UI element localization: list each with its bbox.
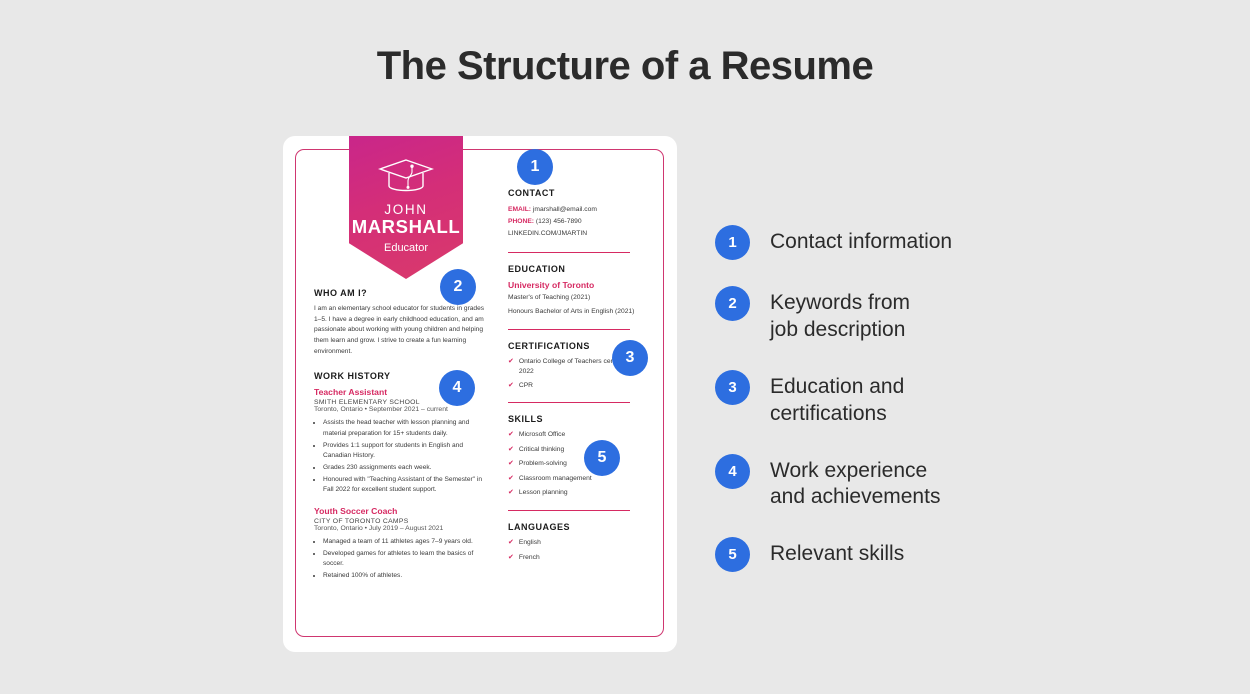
languages-heading: LANGUAGES bbox=[508, 522, 660, 532]
contact-email-label: EMAIL: bbox=[508, 206, 531, 213]
language-label: French bbox=[519, 553, 540, 564]
skill-label: Microsoft Office bbox=[519, 430, 565, 441]
skill-label: Problem-solving bbox=[519, 459, 567, 470]
legend-label-1: Contact information bbox=[770, 225, 952, 256]
legend-list: 1 Contact information 2 Keywords from jo… bbox=[715, 225, 1115, 598]
job-bullet: Developed games for athletes to learn th… bbox=[323, 549, 490, 570]
check-icon: ✔ bbox=[508, 538, 514, 549]
check-icon: ✔ bbox=[508, 445, 514, 456]
graduation-cap-icon bbox=[349, 158, 463, 197]
resume-left-column: WHO AM I? I am an elementary school educ… bbox=[314, 288, 490, 583]
job-bullet: Honoured with "Teaching Assistant of the… bbox=[323, 475, 490, 496]
job-bullet: Assists the head teacher with lesson pla… bbox=[323, 418, 490, 439]
education-degree: Honours Bachelor of Arts in English (202… bbox=[508, 307, 660, 317]
job-meta: Toronto, Ontario • July 2019 – August 20… bbox=[314, 525, 490, 532]
job-organization: CITY OF TORONTO CAMPS bbox=[314, 518, 490, 525]
education-school: University of Toronto bbox=[508, 280, 660, 290]
resume-role: Educator bbox=[349, 242, 463, 254]
skill-item: ✔ Classroom management bbox=[508, 474, 660, 485]
contact-linkedin: LINKEDIN.COM/JMARTIN bbox=[508, 228, 660, 240]
resume-last-name: MARSHALL bbox=[349, 216, 463, 238]
legend-label-5: Relevant skills bbox=[770, 537, 904, 568]
education-degree: Master's of Teaching (2021) bbox=[508, 293, 660, 303]
resume-badge-2: 2 bbox=[440, 269, 476, 305]
legend-badge-4: 4 bbox=[715, 454, 750, 489]
legend-item-3: 3 Education and certifications bbox=[715, 370, 1115, 428]
legend-badge-1: 1 bbox=[715, 225, 750, 260]
skill-label: Lesson planning bbox=[519, 488, 568, 499]
check-icon: ✔ bbox=[508, 430, 514, 441]
language-item: ✔ English bbox=[508, 538, 660, 549]
section-divider bbox=[508, 329, 630, 330]
certification-item: ✔ CPR bbox=[508, 381, 660, 392]
job-bullet: Managed a team of 11 athletes ages 7–9 y… bbox=[323, 537, 490, 548]
legend-item-5: 5 Relevant skills bbox=[715, 537, 1115, 572]
skill-label: Critical thinking bbox=[519, 445, 564, 456]
job-title: Youth Soccer Coach bbox=[314, 506, 490, 516]
job-bullets: Assists the head teacher with lesson pla… bbox=[314, 418, 490, 496]
check-icon: ✔ bbox=[508, 488, 514, 499]
check-icon: ✔ bbox=[508, 381, 514, 392]
legend-badge-5: 5 bbox=[715, 537, 750, 572]
skill-item: ✔ Microsoft Office bbox=[508, 430, 660, 441]
certification-label: CPR bbox=[519, 381, 533, 392]
legend-badge-2: 2 bbox=[715, 286, 750, 321]
skills-heading: SKILLS bbox=[508, 414, 660, 424]
work-history-job: Youth Soccer Coach CITY OF TORONTO CAMPS… bbox=[314, 506, 490, 582]
resume-first-name: JOHN bbox=[349, 202, 463, 217]
legend-badge-3: 3 bbox=[715, 370, 750, 405]
section-divider bbox=[508, 510, 630, 511]
job-bullet: Retained 100% of athletes. bbox=[323, 571, 490, 582]
legend-label-2: Keywords from job description bbox=[770, 286, 910, 344]
about-text: I am an elementary school educator for s… bbox=[314, 304, 490, 357]
language-label: English bbox=[519, 538, 541, 549]
resume-badge-4: 4 bbox=[439, 370, 475, 406]
check-icon: ✔ bbox=[508, 553, 514, 564]
check-icon: ✔ bbox=[508, 357, 514, 377]
check-icon: ✔ bbox=[508, 474, 514, 485]
resume-right-column: CONTACT EMAIL: jmarshall@email.com PHONE… bbox=[508, 188, 660, 567]
check-icon: ✔ bbox=[508, 459, 514, 470]
contact-phone-label: PHONE: bbox=[508, 218, 534, 225]
section-divider bbox=[508, 252, 630, 253]
skill-item: ✔ Lesson planning bbox=[508, 488, 660, 499]
education-heading: EDUCATION bbox=[508, 264, 660, 274]
page-title: The Structure of a Resume bbox=[0, 44, 1250, 89]
resume-badge-3: 3 bbox=[612, 340, 648, 376]
contact-email: EMAIL: jmarshall@email.com bbox=[508, 204, 660, 216]
legend-item-1: 1 Contact information bbox=[715, 225, 1115, 260]
contact-phone-value: (123) 456-7890 bbox=[536, 218, 582, 225]
resume-badge-5: 5 bbox=[584, 440, 620, 476]
legend-item-2: 2 Keywords from job description bbox=[715, 286, 1115, 344]
section-divider bbox=[508, 402, 630, 403]
resume-card: JOHN MARSHALL Educator WHO AM I? I am an… bbox=[283, 136, 677, 652]
language-item: ✔ French bbox=[508, 553, 660, 564]
legend-label-3: Education and certifications bbox=[770, 370, 904, 428]
job-bullet: Grades 230 assignments each week. bbox=[323, 463, 490, 474]
job-bullet: Provides 1:1 support for students in Eng… bbox=[323, 441, 490, 462]
legend-label-4: Work experience and achievements bbox=[770, 454, 940, 512]
resume-badge-1: 1 bbox=[517, 149, 553, 185]
contact-phone: PHONE: (123) 456-7890 bbox=[508, 216, 660, 228]
job-bullets: Managed a team of 11 athletes ages 7–9 y… bbox=[314, 537, 490, 582]
job-meta: Toronto, Ontario • September 2021 – curr… bbox=[314, 406, 490, 413]
contact-email-value: jmarshall@email.com bbox=[533, 206, 597, 213]
contact-heading: CONTACT bbox=[508, 188, 660, 198]
skill-label: Classroom management bbox=[519, 474, 592, 485]
legend-item-4: 4 Work experience and achievements bbox=[715, 454, 1115, 512]
